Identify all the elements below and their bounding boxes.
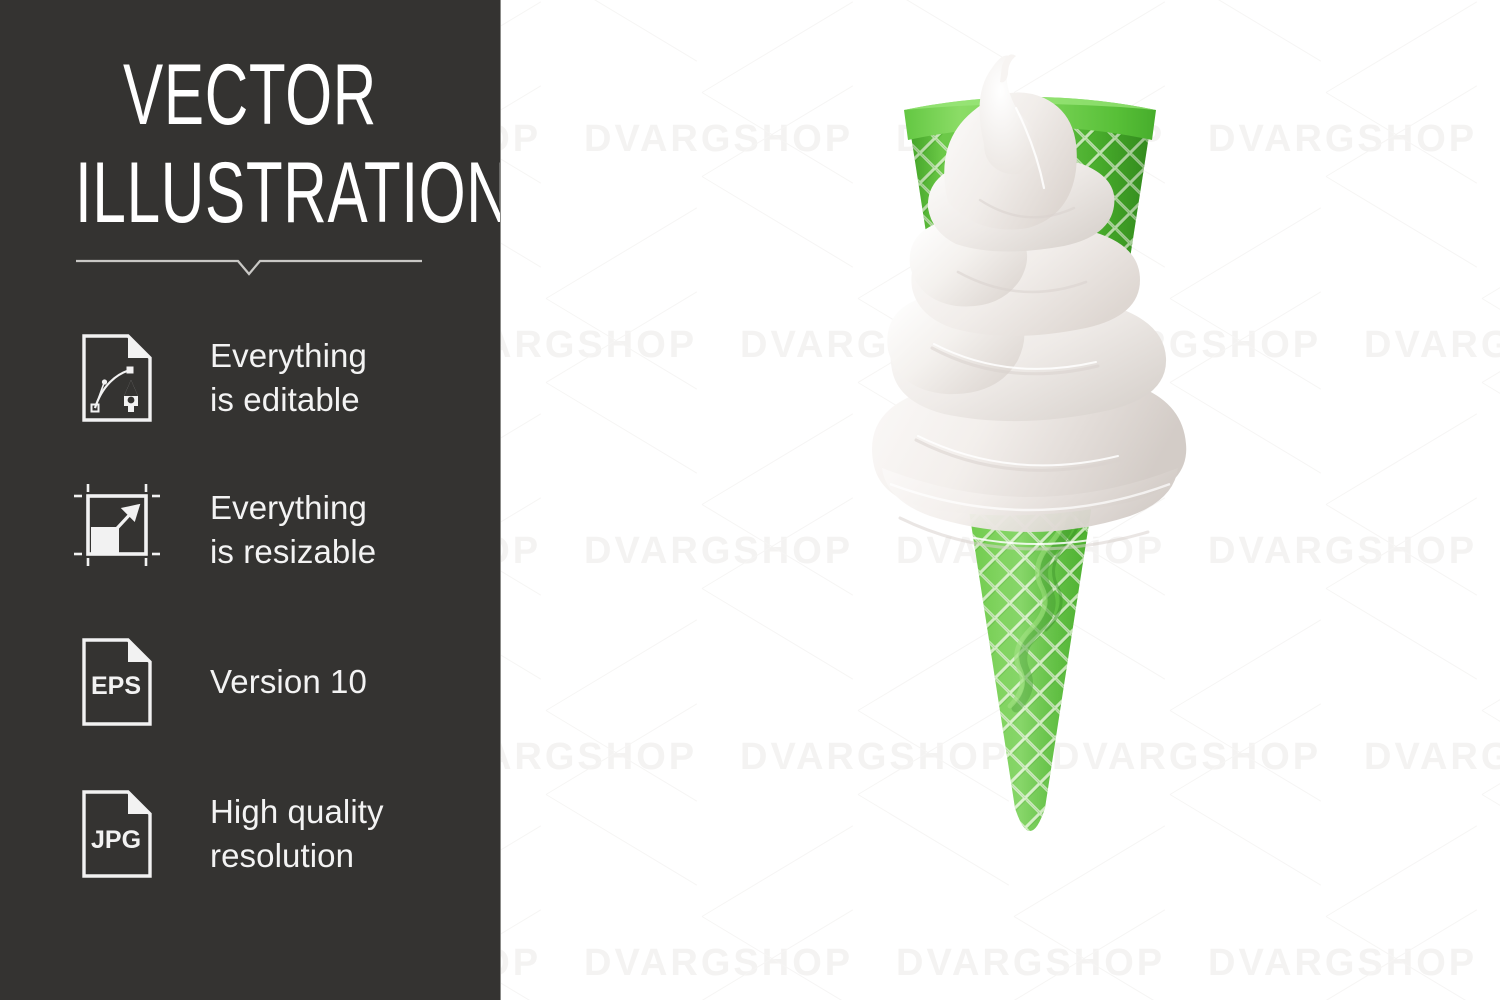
watermark-text: DVARGSHOP [1208,942,1477,985]
watermark-diagonal-line [1482,619,1500,711]
feature-list: Everything is editable [0,302,500,910]
watermark-diagonal-line [501,85,541,177]
watermark-diagonal-line [501,413,541,505]
page-title-primary: VECTOR [75,52,425,138]
feature-label: Everything is resizable [210,486,376,573]
jpg-file-icon: JPG [78,785,156,883]
watermark-text: DVARGSHOP [1364,324,1500,367]
watermark-diagonal-line [501,176,541,268]
feature-label: High quality resolution [210,790,384,877]
jpg-file-icon-label: JPG [91,826,141,854]
title-divider [76,254,422,280]
watermark-diagonal-line [501,588,541,680]
watermark-diagonal-line [1482,298,1500,390]
watermark-text: DVARGSHOP [1364,736,1500,779]
artwork-preview-area: DVARGSHOPDVARGSHOPDVARGSHOPDVARGSHOPDVAR… [501,0,1500,1000]
feature-item-resizable: Everything is resizable [0,454,500,606]
chevron-down-divider-icon [76,254,422,280]
watermark-diagonal-line [546,619,697,711]
resize-crop-marks-icon [78,481,156,579]
watermark-diagonal-line [546,382,697,474]
watermark-diagonal-line [1482,703,1500,795]
feature-item-eps: EPS Version 10 [0,606,500,758]
watermark-diagonal-line [1326,825,1477,917]
watermark-diagonal-line [501,92,541,184]
watermark-diagonal-line [501,1,541,93]
watermark-diagonal-line [1326,413,1477,505]
watermark-text: DVARGSHOP [1208,118,1477,161]
watermark-diagonal-line [1326,909,1477,1000]
watermark-text: DVARGSHOP [501,118,541,161]
watermark-diagonal-line [1482,710,1500,802]
watermark-diagonal-line [1482,382,1500,474]
watermark-diagonal-line [546,291,697,383]
watermark-diagonal-line [1326,497,1477,589]
watermark-text: DVARGSHOP [501,530,541,573]
panel-title-block: VECTOR ILLUSTRATION [0,52,500,236]
watermark-diagonal-line [546,298,697,390]
watermark-diagonal-line [1326,85,1477,177]
preview-canvas: VECTOR ILLUSTRATION [0,0,1500,1000]
soft-serve-ice-cream-cone-artwork [830,48,1230,938]
eps-file-icon-label: EPS [91,672,141,700]
info-side-panel: VECTOR ILLUSTRATION [0,0,501,1000]
watermark-diagonal-line [1482,0,1500,62]
watermark-diagonal-line [546,703,697,795]
page-title-secondary: ILLUSTRATION [75,150,425,236]
bezier-pen-document-icon [78,329,156,427]
watermark-diagonal-line [1326,588,1477,680]
feature-label: Everything is editable [210,334,367,421]
watermark-diagonal-line [1326,1,1477,93]
watermark-text: DVARGSHOP [584,530,853,573]
watermark-diagonal-line [501,504,541,596]
watermark-diagonal-line [501,916,541,1000]
watermark-text: DVARGSHOP [501,324,697,367]
watermark-diagonal-line [501,825,541,917]
watermark-diagonal-line [546,794,697,886]
feature-label: Version 10 [210,660,367,704]
watermark-text: DVARGSHOP [501,736,697,779]
watermark-diagonal-line [1482,207,1500,299]
feature-item-jpg: JPG High quality resolution [0,758,500,910]
watermark-diagonal-line [1482,291,1500,383]
watermark-diagonal-line [1326,916,1477,1000]
watermark-diagonal-line [546,0,697,62]
eps-file-icon: EPS [78,633,156,731]
watermark-diagonal-line [1326,92,1477,184]
watermark-diagonal-line [1482,794,1500,886]
watermark-text: DVARGSHOP [896,942,1165,985]
watermark-diagonal-line [546,207,697,299]
watermark-text: DVARGSHOP [1208,530,1477,573]
watermark-diagonal-line [1326,176,1477,268]
watermark-diagonal-line [1326,504,1477,596]
feature-item-editable: Everything is editable [0,302,500,454]
watermark-diagonal-line [501,497,541,589]
watermark-diagonal-line [501,909,541,1000]
watermark-text: DVARGSHOP [501,942,541,985]
watermark-text: DVARGSHOP [584,118,853,161]
watermark-text: DVARGSHOP [584,942,853,985]
watermark-diagonal-line [546,710,697,802]
